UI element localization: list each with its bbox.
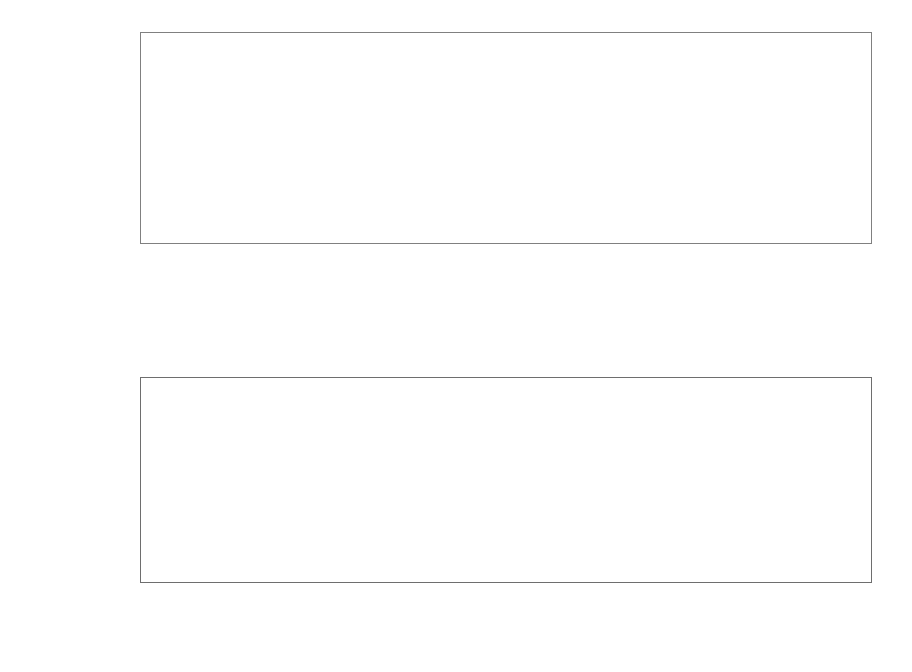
scatter-panel (140, 32, 872, 244)
figure-root (0, 0, 912, 672)
distribution-panel (140, 377, 872, 583)
scatter-canvas (141, 33, 871, 243)
distribution-canvas (141, 378, 871, 582)
